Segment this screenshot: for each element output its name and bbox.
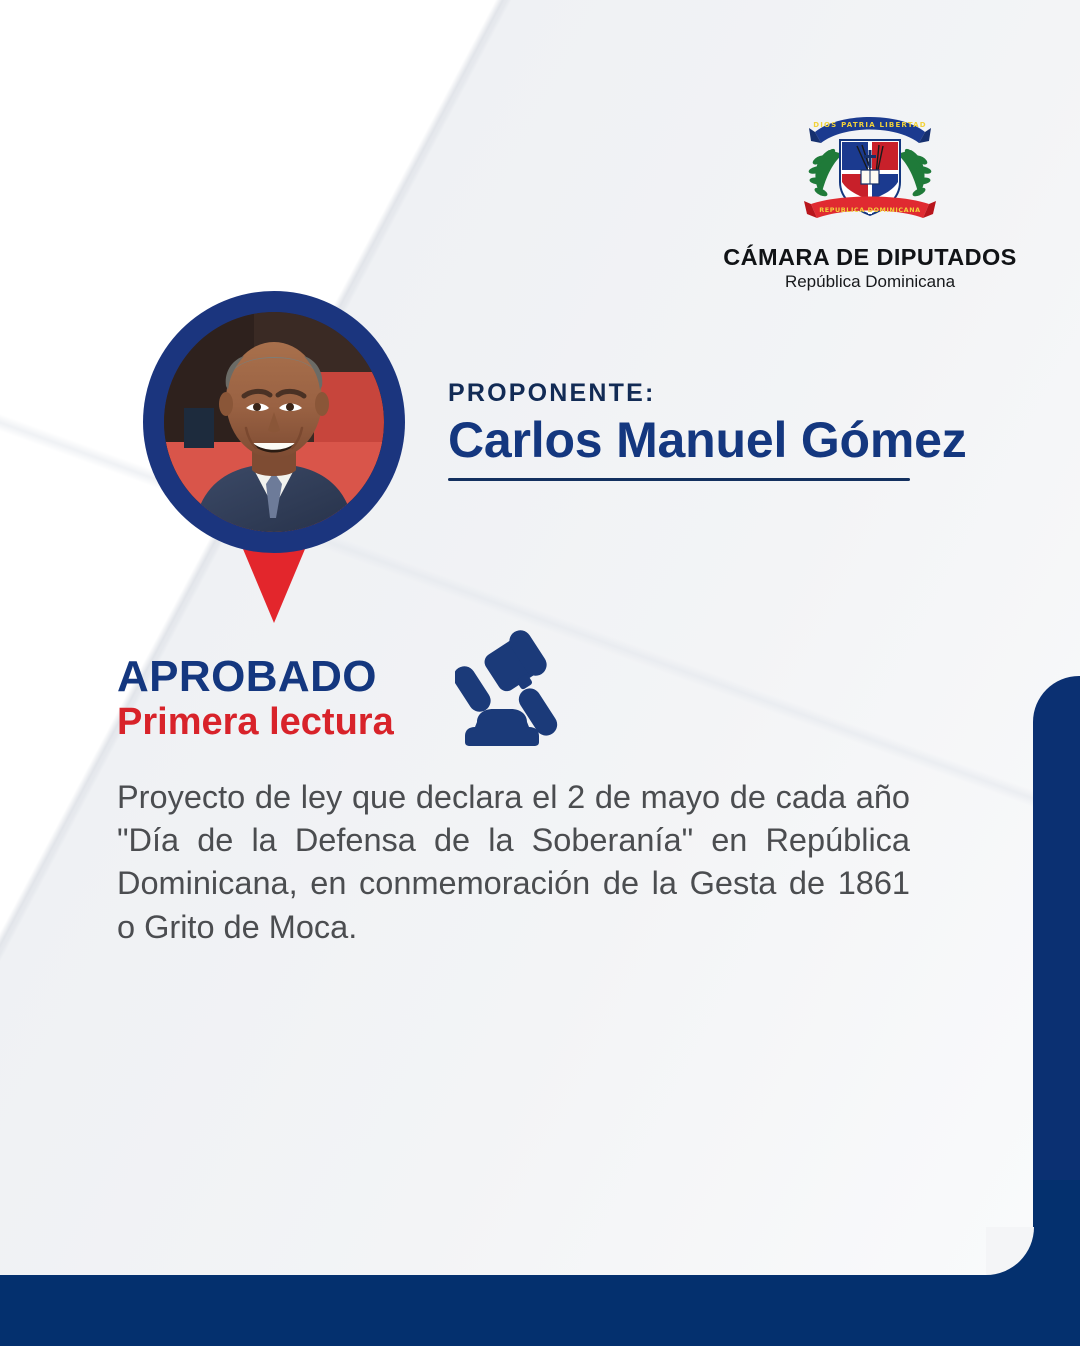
coat-of-arms-icon: DIOS PATRIA LIBERTAD bbox=[795, 100, 945, 240]
navy-bottom-bar bbox=[0, 1275, 1080, 1346]
institution-emblem-block: DIOS PATRIA LIBERTAD bbox=[700, 100, 1040, 291]
portrait-photo-icon bbox=[164, 312, 384, 532]
proponent-block: PROPONENTE: Carlos Manuel Gómez bbox=[448, 381, 988, 481]
navy-corner-notch bbox=[986, 1227, 1034, 1275]
navy-side-panel-join bbox=[1033, 1180, 1080, 1280]
proponent-portrait-pin bbox=[143, 291, 405, 636]
bill-description: Proyecto de ley que declara el 2 de mayo… bbox=[117, 776, 910, 949]
avatar bbox=[164, 312, 384, 532]
proponent-name: Carlos Manuel Gómez bbox=[448, 412, 988, 468]
proponent-label: PROPONENTE: bbox=[448, 381, 988, 406]
social-card: DIOS PATRIA LIBERTAD bbox=[0, 0, 1080, 1346]
description-text: Proyecto de ley que declara el 2 de mayo… bbox=[117, 779, 910, 945]
organization-subtitle: República Dominicana bbox=[700, 273, 1040, 292]
organization-name: CÁMARA DE DIPUTADOS bbox=[700, 245, 1040, 270]
proponent-underline bbox=[448, 478, 910, 481]
svg-text:DIOS PATRIA LIBERTAD: DIOS PATRIA LIBERTAD bbox=[813, 121, 927, 129]
svg-text:REPUBLICA DOMINICANA: REPUBLICA DOMINICANA bbox=[819, 206, 920, 214]
gavel-icon bbox=[455, 630, 585, 748]
